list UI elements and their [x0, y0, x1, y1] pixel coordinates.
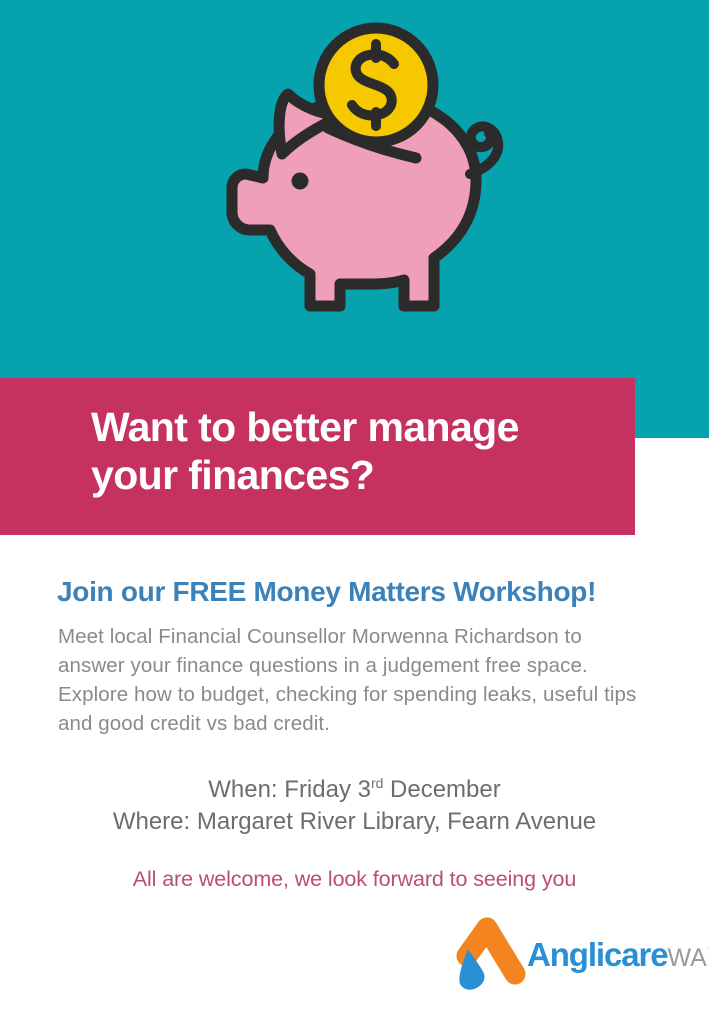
- poster-headline: Want to better manage your finances?: [91, 403, 611, 500]
- body-line-1: Meet local Financial Counsellor Morwenna…: [58, 622, 670, 651]
- event-details: When: Friday 3rd December Where: Margare…: [0, 774, 709, 838]
- wordmark-wa: WA: [668, 944, 707, 972]
- where-label: Where:: [113, 808, 190, 835]
- poster-root: Want to better manage your finances? Joi…: [0, 0, 709, 1024]
- white-corner-notch: [635, 438, 709, 538]
- when-label: When:: [208, 776, 277, 803]
- body-line-2: answer your finance questions in a judge…: [58, 651, 670, 680]
- body-line-4: and good credit vs bad credit.: [58, 709, 670, 738]
- when-ordinal-suffix: rd: [371, 775, 383, 791]
- when-value-pre: Friday 3: [284, 776, 371, 803]
- workshop-subheading: Join our FREE Money Matters Workshop!: [57, 576, 596, 608]
- piggy-bank-illustration: [188, 18, 518, 358]
- headline-line-2: your finances?: [91, 451, 611, 499]
- event-when-line: When: Friday 3rd December: [0, 774, 709, 806]
- anglicare-wa-logo: AnglicareWA™: [447, 916, 687, 990]
- poster-body-copy: Meet local Financial Counsellor Morwenna…: [58, 622, 670, 738]
- event-where-line: Where: Margaret River Library, Fearn Ave…: [0, 806, 709, 838]
- anglicare-wordmark: AnglicareWA™: [527, 936, 709, 974]
- welcome-message: All are welcome, we look forward to seei…: [0, 867, 709, 892]
- wordmark-anglicare: Anglicare: [527, 936, 668, 973]
- headline-line-1: Want to better manage: [91, 403, 611, 451]
- when-value-post: December: [390, 776, 501, 803]
- body-line-3: Explore how to budget, checking for spen…: [58, 680, 670, 709]
- anglicare-chevron-mark-icon: [447, 916, 533, 990]
- where-value: Margaret River Library, Fearn Avenue: [197, 808, 596, 835]
